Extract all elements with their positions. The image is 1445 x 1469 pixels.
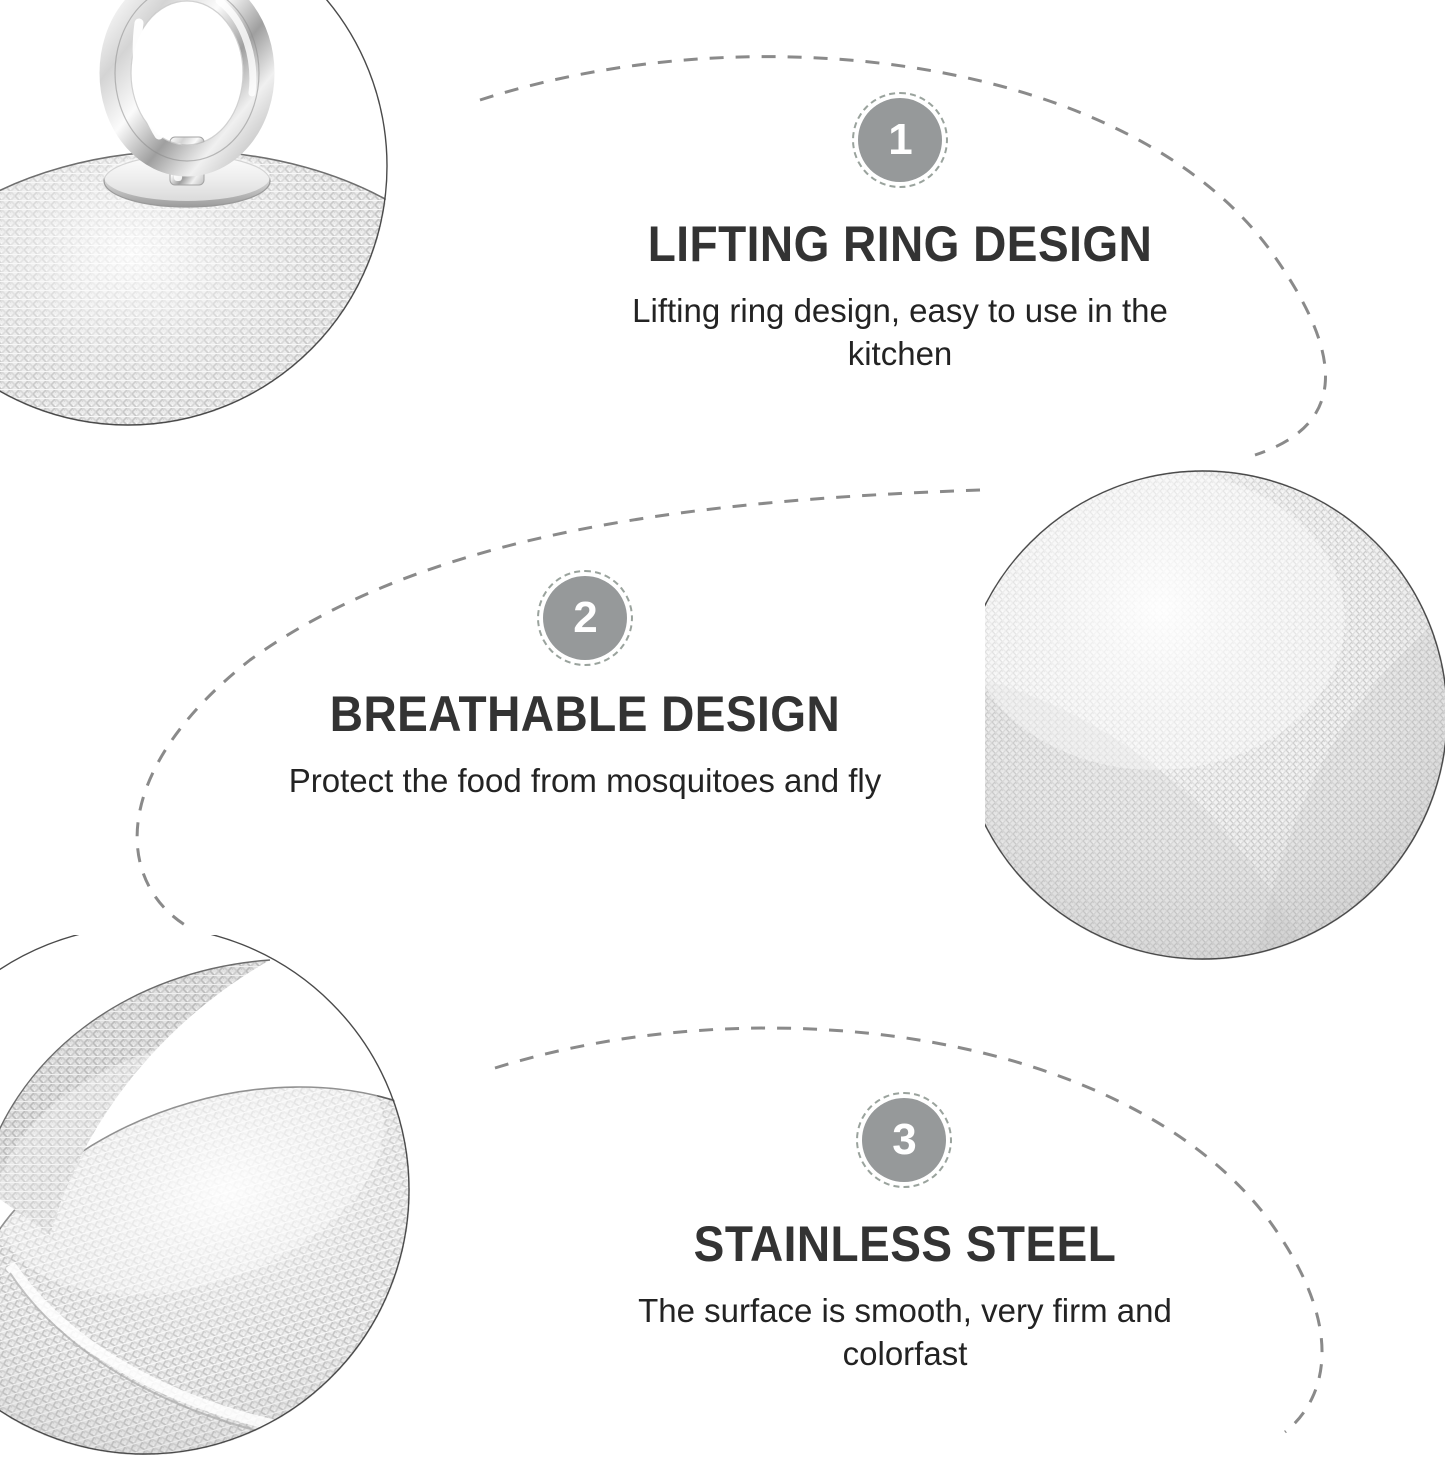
photo-breathable-mesh [985,470,1445,970]
feature-block-two: BREATHABLE DESIGN Protect the food from … [275,688,895,802]
feature-three-body: The surface is smooth, very firm and col… [595,1289,1215,1377]
feature-block-three: STAINLESS STEEL The surface is smooth, v… [595,1218,1215,1376]
badge-three: 3 [862,1098,946,1182]
badge-three-number: 3 [892,1118,915,1162]
infographic-page: 1 LIFTING RING DESIGN Lifting ring desig… [0,0,1445,1469]
feature-one-heading: LIFTING RING DESIGN [615,218,1185,271]
feature-two-body: Protect the food from mosquitoes and fly [275,759,895,803]
photo-stainless-steel-dome [0,935,480,1469]
feature-three-heading: STAINLESS STEEL [620,1218,1190,1271]
feature-one-body: Lifting ring design, easy to use in the … [590,289,1210,377]
feature-two-heading: BREATHABLE DESIGN [300,688,870,741]
photo-lifting-ring [0,0,454,473]
badge-two: 2 [543,576,627,660]
badge-one: 1 [858,98,942,182]
feature-block-one: LIFTING RING DESIGN Lifting ring design,… [590,218,1210,376]
badge-one-number: 1 [888,118,911,162]
badge-two-number: 2 [573,596,596,640]
